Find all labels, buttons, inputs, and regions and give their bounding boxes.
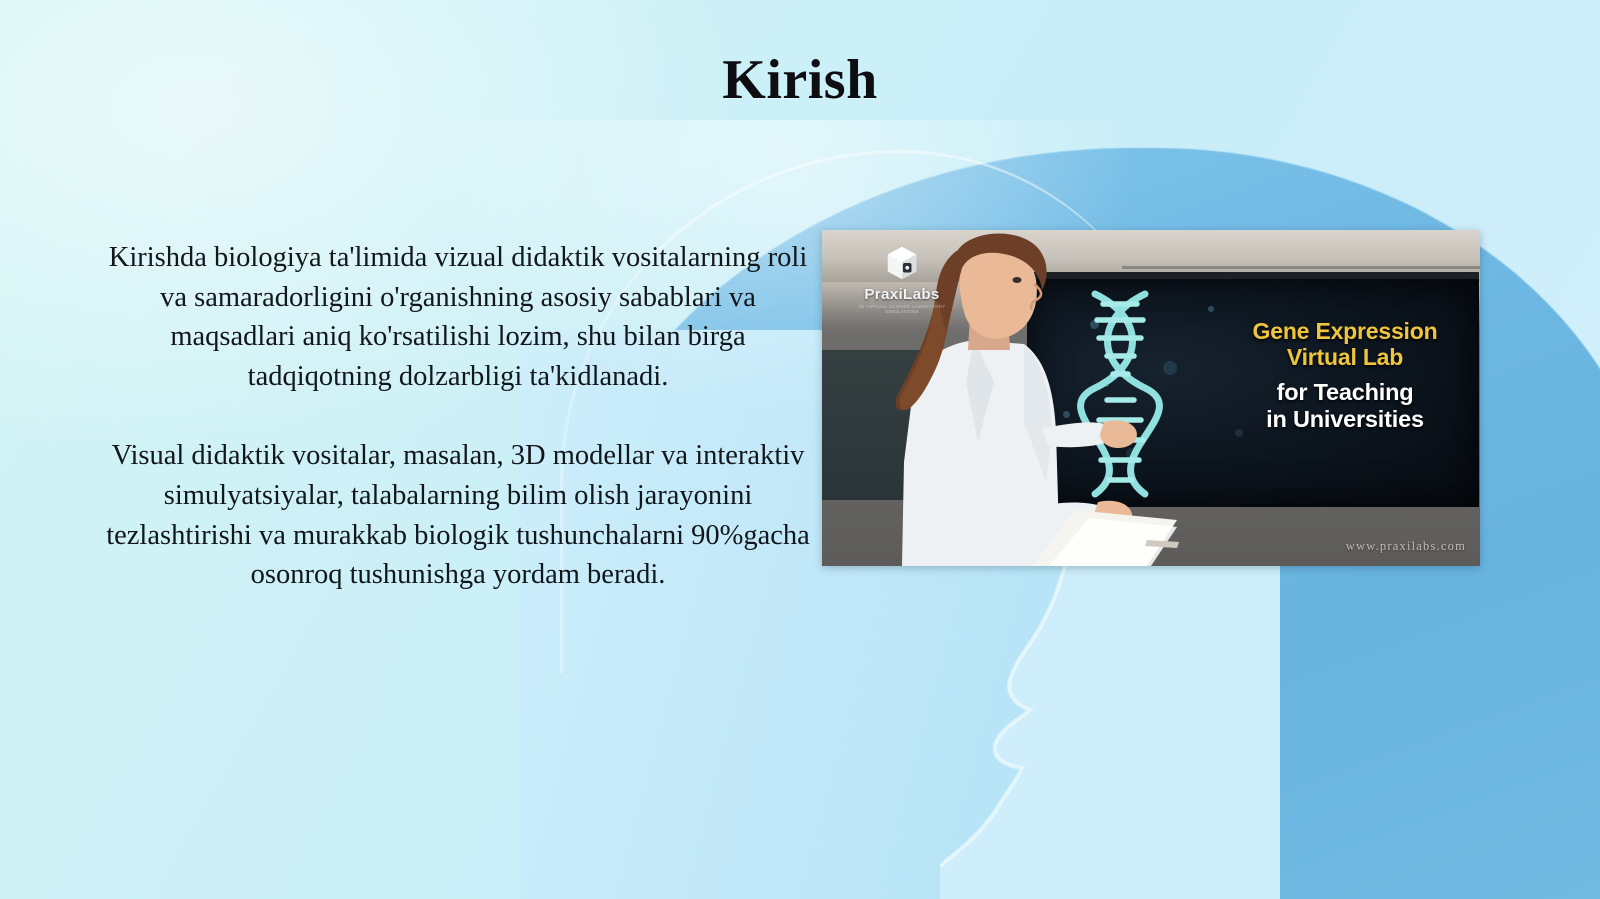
overlay-line-in-universities: in Universities	[1214, 406, 1476, 433]
image-watermark: www.praxilabs.com	[1346, 539, 1466, 554]
desk-papers	[1027, 494, 1212, 566]
praxilabs-logo: PraxiLabs 3D VIRTUAL SCIENCE LABORATORY …	[850, 244, 954, 314]
paragraph-intro: Kirishda biologiya ta'limida vizual dida…	[96, 238, 820, 396]
image-overlay-text: Gene Expression Virtual Lab for Teaching…	[1214, 318, 1476, 432]
cube-icon	[883, 244, 921, 282]
presentation-slide: Kirish Kirishda biologiya ta'limida vizu…	[0, 0, 1600, 899]
overlay-line-for-teaching: for Teaching	[1214, 379, 1476, 406]
logo-wordmark: PraxiLabs	[850, 286, 954, 303]
logo-tagline: 3D VIRTUAL SCIENCE LABORATORY SIMULATION…	[850, 304, 954, 314]
face-profile-silhouette	[940, 560, 1280, 899]
overlay-line-gene-expression: Gene Expression	[1214, 318, 1476, 344]
slide-image: PraxiLabs 3D VIRTUAL SCIENCE LABORATORY …	[822, 230, 1480, 566]
paragraph-visual-tools: Visual didaktik vositalar, masalan, 3D m…	[96, 436, 820, 594]
body-text-column: Kirishda biologiya ta'limida vizual dida…	[96, 238, 820, 595]
overlay-line-virtual-lab: Virtual Lab	[1214, 344, 1476, 370]
page-title: Kirish	[0, 48, 1600, 112]
ceiling-rail	[1122, 266, 1480, 269]
